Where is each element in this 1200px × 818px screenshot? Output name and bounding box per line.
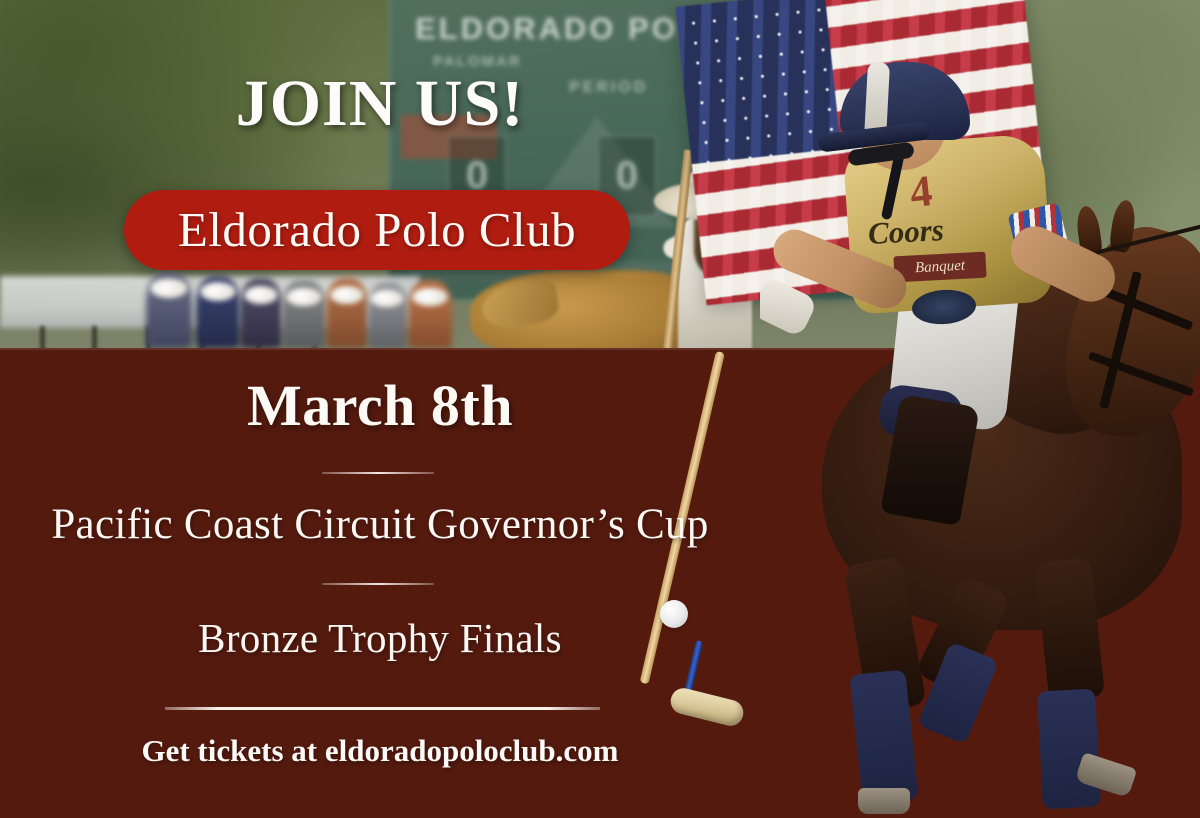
spectator-hat xyxy=(244,286,278,304)
jersey-brand-text: Coors xyxy=(867,212,945,252)
ticket-cta[interactable]: Get tickets at eldoradopoloclub.com xyxy=(0,733,760,769)
headline-join-us: JOIN US! xyxy=(0,66,760,142)
club-name-label: Eldorado Polo Club xyxy=(124,190,630,270)
rail-post xyxy=(40,326,45,348)
spectator-hat xyxy=(370,290,404,307)
horse-hoof xyxy=(858,788,910,814)
spectator-hat xyxy=(150,278,188,298)
jersey-sub-text: Banquet xyxy=(893,252,986,283)
event-subtitle-secondary: Bronze Trophy Finals xyxy=(0,614,760,662)
event-flyer: ELDORADO POLO C PALOMAR LEGENDS PERIOD 0… xyxy=(0,0,1200,818)
club-name-pill: Eldorado Polo Club xyxy=(124,190,630,270)
horse-leg-wrap xyxy=(1037,689,1101,810)
event-date: March 8th xyxy=(0,372,760,439)
polo-rider-scene: 4 Coors Banquet xyxy=(760,0,1200,818)
event-subtitle-primary: Pacific Coast Circuit Governor’s Cup xyxy=(0,500,760,549)
divider-short-top xyxy=(322,472,434,474)
divider-long xyxy=(165,707,600,710)
divider-short-bottom xyxy=(322,583,434,585)
spectator-hat xyxy=(286,288,322,306)
spectator-hat xyxy=(330,286,364,304)
spectator-hat xyxy=(412,288,448,306)
spectator-hat xyxy=(200,282,236,301)
rider-glove xyxy=(760,276,818,338)
rail-post xyxy=(92,326,97,348)
